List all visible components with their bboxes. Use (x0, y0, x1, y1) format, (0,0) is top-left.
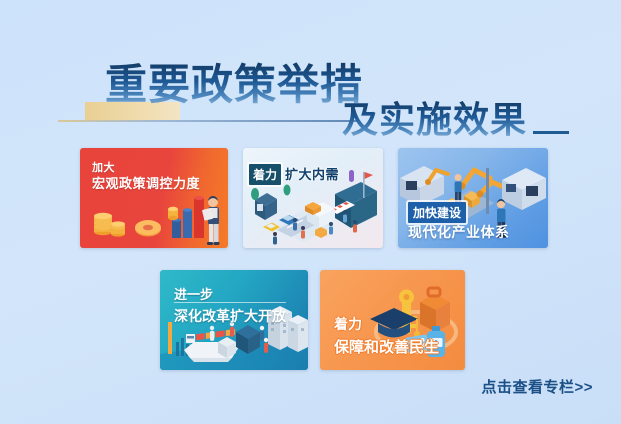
page-title-sub: 及实施效果 (342, 100, 527, 140)
card-5-label-line2: 保障和改善民生 (334, 336, 439, 357)
card-3-text-label: 现代化产业体系 (408, 222, 510, 242)
card-1-label-line1: 加大 (92, 162, 200, 176)
card-4-label-line2: 深化改革扩大开放 (174, 306, 286, 326)
view-column-link[interactable]: 点击查看专栏>> (481, 376, 593, 397)
poster-canvas: 重要政策举措 及实施效果 (0, 0, 621, 424)
policy-card-reform-opening[interactable]: 进一步 深化改革扩大开放 (160, 270, 308, 370)
card-4-divider (174, 302, 286, 303)
illustration-isometric-commerce (243, 148, 383, 248)
card-3-chip-label: 加快建设 (408, 202, 466, 223)
card-5-label-line1: 着力 (334, 314, 362, 334)
policy-card-modern-industry[interactable]: 加快建设 现代化产业体系 (398, 148, 548, 248)
title-right-dash (533, 131, 569, 134)
card-1-label: 加大 宏观政策调控力度 (92, 162, 200, 192)
policy-card-macro-regulation[interactable]: 加大 宏观政策调控力度 (80, 148, 228, 248)
policy-card-expand-demand[interactable]: 着力 扩大内需 (243, 148, 383, 248)
card-1-label-line2: 宏观政策调控力度 (92, 176, 200, 192)
policy-card-peoples-livelihood[interactable]: 着力 保障和改善民生 (320, 270, 465, 370)
title-block: 重要政策举措 及实施效果 (0, 28, 621, 138)
card-4-label-line1: 进一步 (174, 284, 213, 303)
title-underline-rule (58, 120, 358, 122)
page-title-main: 重要政策举措 (105, 62, 363, 108)
card-2-chip-label: 着力 (249, 164, 281, 185)
card-2-text-label: 扩大内需 (285, 164, 339, 183)
